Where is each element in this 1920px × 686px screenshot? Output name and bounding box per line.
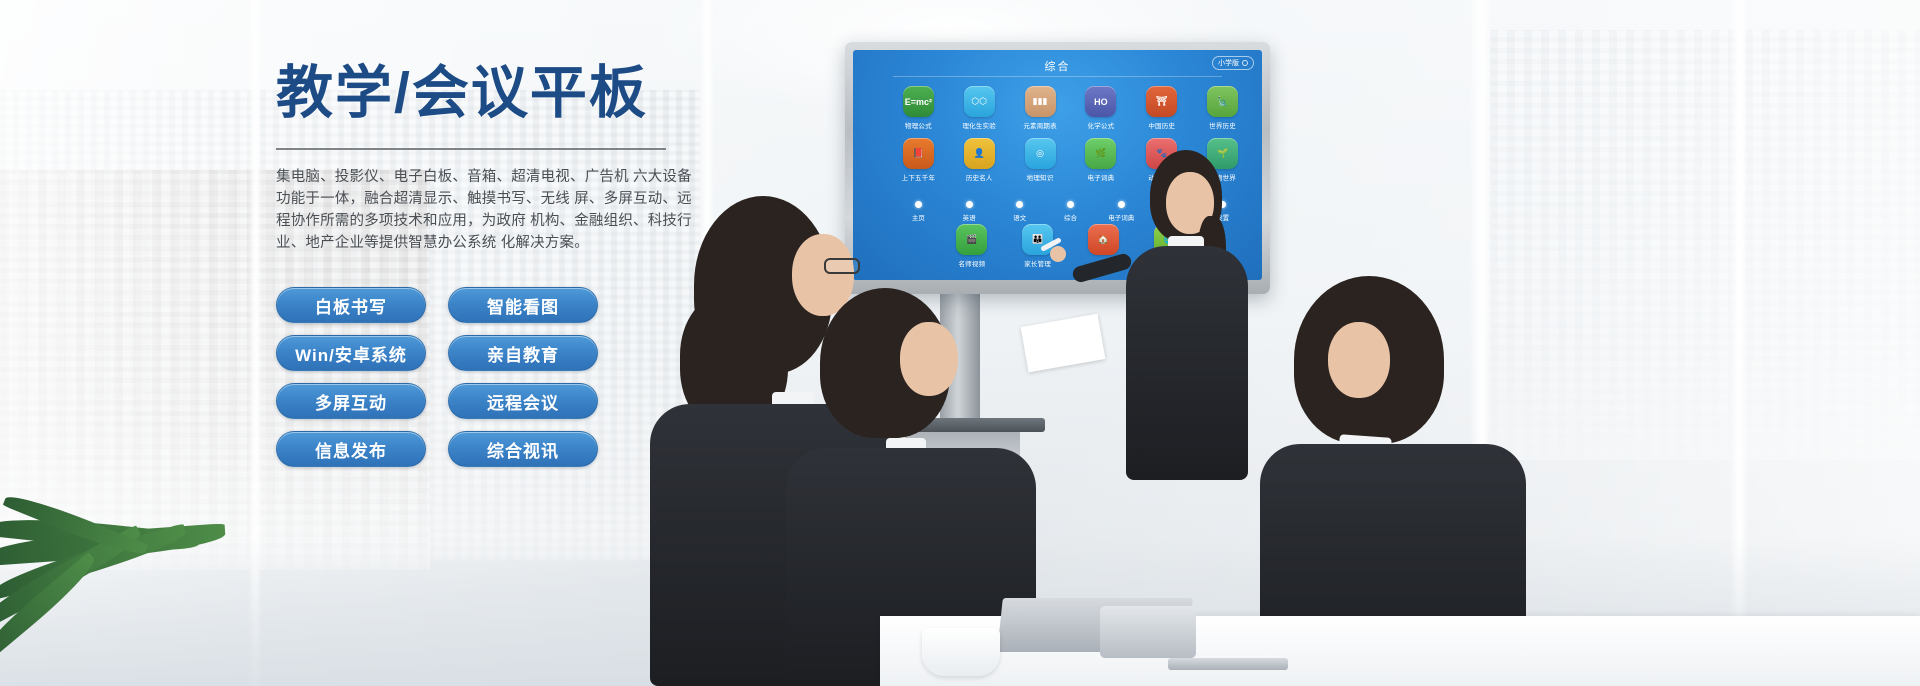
app-tile-icon: ⛩ <box>1146 86 1177 117</box>
app-tile-icon: ⬡⬡ <box>964 86 995 117</box>
description-line: 业、地产企业等提供智慧办公系统 化解决方案。 <box>276 232 676 254</box>
hero-description: 集电脑、投影仪、电子白板、音箱、超清电视、广告机 六大设备 功能于一体，融合超清… <box>276 166 676 254</box>
app-tile-icon: 📕 <box>903 138 934 169</box>
feature-button-video-conf[interactable]: 综合视讯 <box>448 431 598 467</box>
screen-title: 综合 <box>853 58 1262 74</box>
app-icon-9[interactable]: ◎地理知识 <box>1015 138 1066 182</box>
nav-dot-icon <box>1016 201 1023 208</box>
nav-label: 语文 <box>1013 212 1026 222</box>
description-line: 程协作所需的多项技术和应用，为政府 机构、金融组织、科技行 <box>276 210 676 232</box>
app-label: 电子词典 <box>1088 172 1115 182</box>
bottom-app-tile-icon: 🎬 <box>956 224 987 255</box>
app-icon-4[interactable]: HO化学公式 <box>1075 86 1126 130</box>
bottom-app-tile-icon: 👪 <box>1022 224 1053 255</box>
app-icon-1[interactable]: E=mc²物理公式 <box>893 86 944 130</box>
nav-label: 综合 <box>1064 212 1077 222</box>
nav-item-2[interactable]: 英语 <box>944 201 995 222</box>
presenter-hand <box>1050 246 1066 262</box>
feature-button-grid: 白板书写 智能看图 Win/安卓系统 亲自教育 多屏互动 远程会议 信息发布 综… <box>276 287 606 467</box>
description-line: 集电脑、投影仪、电子白板、音箱、超清电视、广告机 六大设备 <box>276 166 676 188</box>
title-divider <box>276 148 666 150</box>
app-tile-icon: E=mc² <box>903 86 934 117</box>
nav-item-4[interactable]: 综合 <box>1045 201 1096 222</box>
feature-button-remote-meeting[interactable]: 远程会议 <box>448 383 598 419</box>
app-tile-icon: 👤 <box>964 138 995 169</box>
refresh-icon <box>1242 60 1248 66</box>
eyeglasses-icon <box>824 258 860 274</box>
app-label: 世界历史 <box>1209 120 1236 130</box>
app-label: 中国历史 <box>1148 120 1175 130</box>
attendee2-face <box>900 322 958 396</box>
nav-label: 主页 <box>912 212 925 222</box>
nav-item-3[interactable]: 语文 <box>994 201 1045 222</box>
app-tile-icon: 🌿 <box>1085 138 1116 169</box>
app-icon-10[interactable]: 🌿电子词典 <box>1075 138 1126 182</box>
nav-item-1[interactable]: 主页 <box>893 201 944 222</box>
presenter-suit <box>1126 246 1248 480</box>
edition-badge-label: 小学版 <box>1218 58 1239 68</box>
bottom-app-1[interactable]: 🎬名师视频 <box>939 224 1005 268</box>
bottom-app-label: 名师视频 <box>958 258 985 268</box>
attendee3-face <box>1328 322 1390 398</box>
bottom-app-label: 家长管理 <box>1024 258 1051 268</box>
app-tile-icon: 🗽 <box>1207 86 1238 117</box>
feature-button-os[interactable]: Win/安卓系统 <box>276 335 426 371</box>
app-label: 地理知识 <box>1027 172 1054 182</box>
feature-button-whiteboard[interactable]: 白板书写 <box>276 287 426 323</box>
screen-title-underline <box>893 76 1222 77</box>
keyboard-icon[interactable] <box>1168 658 1288 670</box>
foreground-plant <box>0 446 300 686</box>
feature-button-education[interactable]: 亲自教育 <box>448 335 598 371</box>
app-icon-8[interactable]: 👤历史名人 <box>954 138 1005 182</box>
description-line: 功能于一体，融合超清显示、触摸书写、无线 屏、多屏互动、远 <box>276 188 676 210</box>
coffee-cup <box>922 628 1000 676</box>
feature-button-multiscreen[interactable]: 多屏互动 <box>276 383 426 419</box>
app-label: 物理公式 <box>905 120 932 130</box>
app-icon-5[interactable]: ⛩中国历史 <box>1136 86 1187 130</box>
app-label: 元素周期表 <box>1023 120 1057 130</box>
edition-badge[interactable]: 小学版 <box>1212 56 1254 70</box>
nav-dot-icon <box>966 201 973 208</box>
app-label: 理化生实验 <box>962 120 996 130</box>
app-label: 化学公式 <box>1088 120 1115 130</box>
app-tile-icon: ◎ <box>1025 138 1056 169</box>
hero-copy: 教学/会议平板 集电脑、投影仪、电子白板、音箱、超清电视、广告机 六大设备 功能… <box>276 62 676 254</box>
bottom-app-tile-icon: 🏠 <box>1088 224 1119 255</box>
app-label: 历史名人 <box>966 172 993 182</box>
feature-button-smart-view[interactable]: 智能看图 <box>448 287 598 323</box>
nav-dot-icon <box>915 201 922 208</box>
app-icon-7[interactable]: 📕上下五千年 <box>893 138 944 182</box>
nav-dot-icon <box>1067 201 1074 208</box>
app-icon-6[interactable]: 🗽世界历史 <box>1197 86 1248 130</box>
app-icon-3[interactable]: ▮▮▮元素周期表 <box>1015 86 1066 130</box>
nav-label: 英语 <box>963 212 976 222</box>
app-label: 上下五千年 <box>902 172 936 182</box>
app-tile-icon: ▮▮▮ <box>1025 86 1056 117</box>
app-icon-2[interactable]: ⬡⬡理化生实验 <box>954 86 1005 130</box>
page-title: 教学/会议平板 <box>276 62 676 126</box>
laptop-screen[interactable] <box>1100 606 1196 658</box>
app-tile-icon: HO <box>1085 86 1116 117</box>
person-presenter <box>1120 150 1250 480</box>
